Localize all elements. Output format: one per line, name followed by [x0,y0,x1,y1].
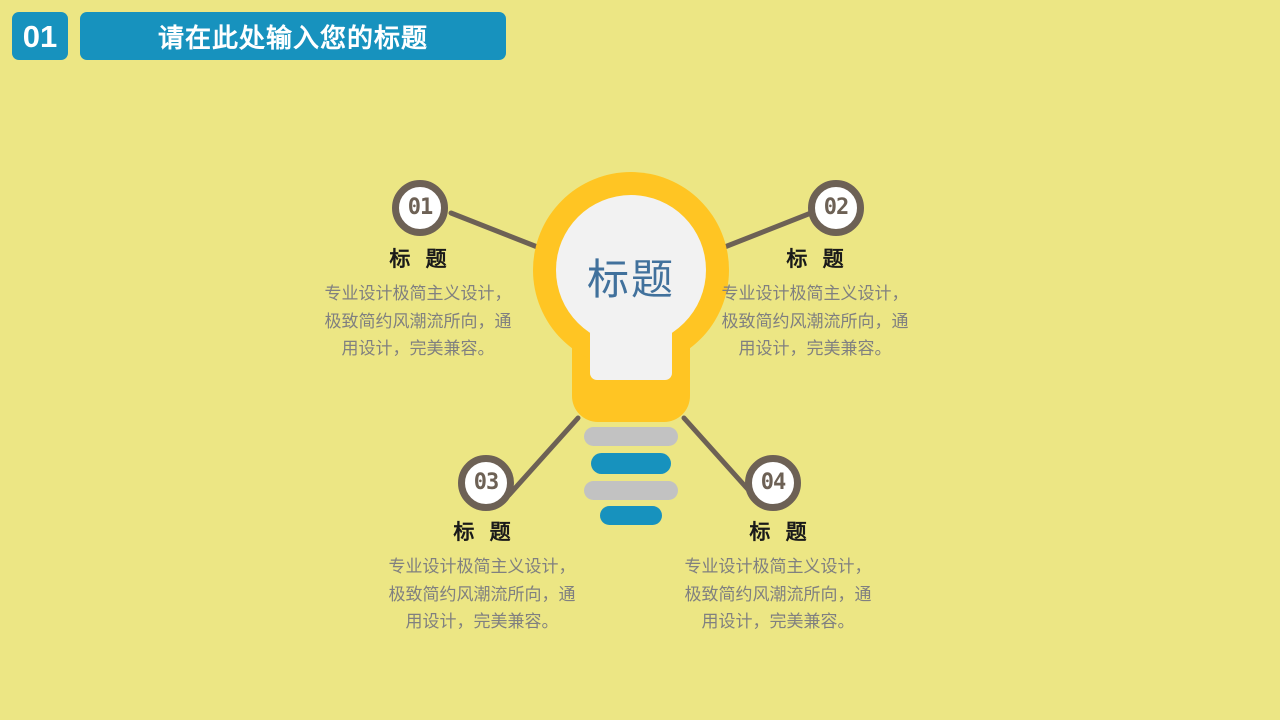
text-block-01: 标 题 专业设计极简主义设计，极致简约风潮流所向，通用设计，完美兼容。 [318,243,518,363]
text-block-03: 标 题 专业设计极简主义设计，极致简约风潮流所向，通用设计，完美兼容。 [382,516,582,636]
text-block-04: 标 题 专业设计极简主义设计，极致简约风潮流所向，通用设计，完美兼容。 [678,516,878,636]
block-heading-01: 标 题 [318,243,518,273]
block-body-01: 专业设计极简主义设计，极致简约风潮流所向，通用设计，完美兼容。 [318,280,518,363]
bulb-center-label: 标题 [533,246,729,307]
connector-line-03 [509,418,578,495]
lightbulb-diagram: 标题 01 02 03 04 标 题 专业设计极简主义设计，极致简约风潮流所向，… [0,0,1280,720]
block-body-03: 专业设计极简主义设计，极致简约风潮流所向，通用设计，完美兼容。 [382,553,582,636]
node-number-04: 04 [761,472,786,494]
block-body-04: 专业设计极简主义设计，极致简约风潮流所向，通用设计，完美兼容。 [678,553,878,636]
block-heading-04: 标 题 [678,516,878,546]
node-circle-02[interactable]: 02 [808,180,864,236]
node-circle-03[interactable]: 03 [458,455,514,511]
connector-line-04 [684,418,753,495]
block-body-02: 专业设计极简主义设计，极致简约风潮流所向，通用设计，完美兼容。 [715,280,915,363]
node-circle-04[interactable]: 04 [745,455,801,511]
node-number-01: 01 [408,197,433,219]
block-heading-03: 标 题 [382,516,582,546]
text-block-02: 标 题 专业设计极简主义设计，极致简约风潮流所向，通用设计，完美兼容。 [715,243,915,363]
node-circle-01[interactable]: 01 [392,180,448,236]
block-heading-02: 标 题 [715,243,915,273]
screw-bar-2 [591,453,671,474]
screw-bar-4 [600,506,662,525]
screw-bar-1 [584,427,678,446]
node-number-02: 02 [824,197,849,219]
screw-bar-3 [584,481,678,500]
lightbulb-icon: 标题 [533,172,729,422]
node-number-03: 03 [474,472,499,494]
